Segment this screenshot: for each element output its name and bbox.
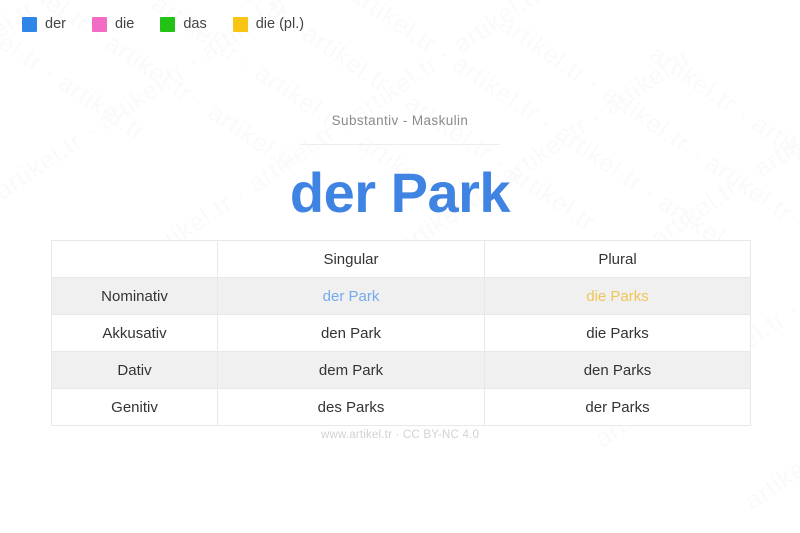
case-label-akkusativ: Akkusativ (52, 315, 218, 352)
declension-table: Singular Plural Nominativ der Park die P… (51, 240, 751, 426)
word-header: Substantiv - Maskulin der Park (0, 112, 800, 223)
column-header-singular: Singular (218, 241, 485, 278)
color-swatch-icon-die-plural (233, 17, 248, 32)
plural-form-akkusativ: die Parks (485, 315, 751, 352)
legend-item-die-plural: die (pl.) (233, 17, 304, 32)
plural-form-dativ: den Parks (485, 352, 751, 389)
page-title: der Park (0, 162, 800, 224)
singular-form-genitiv: des Parks (218, 389, 485, 426)
table-row-nominativ: Nominativ der Park die Parks (52, 278, 751, 315)
case-label-dativ: Dativ (52, 352, 218, 389)
table-header-row: Singular Plural (52, 241, 751, 278)
plural-form-nominativ: die Parks (485, 278, 751, 315)
table-row-dativ: Dativ dem Park den Parks (52, 352, 751, 389)
singular-form-dativ: dem Park (218, 352, 485, 389)
color-swatch-icon-der (22, 17, 37, 32)
column-header-case (52, 241, 218, 278)
legend-label-das: das (183, 17, 206, 32)
plural-form-genitiv: der Parks (485, 389, 751, 426)
table-row-akkusativ: Akkusativ den Park die Parks (52, 315, 751, 352)
legend-label-die-plural: die (pl.) (256, 17, 304, 32)
declension-card: der die das die (pl.) Substantiv - Masku… (0, 0, 800, 533)
singular-form-akkusativ: den Park (218, 315, 485, 352)
legend-label-die: die (115, 17, 134, 32)
legend-item-der: der (22, 17, 66, 32)
footer-credit: www.artikel.tr · CC BY-NC 4.0 (0, 429, 800, 441)
singular-form-nominativ: der Park (218, 278, 485, 315)
legend-item-die: die (92, 17, 134, 32)
article-color-legend: der die das die (pl.) (22, 17, 304, 32)
declension-table-container: Singular Plural Nominativ der Park die P… (51, 240, 750, 426)
column-header-plural: Plural (485, 241, 751, 278)
word-category-label: Substantiv - Maskulin (0, 112, 800, 130)
case-label-nominativ: Nominativ (52, 278, 218, 315)
color-swatch-icon-das (160, 17, 175, 32)
header-divider (300, 144, 500, 145)
color-swatch-icon-die (92, 17, 107, 32)
case-label-genitiv: Genitiv (52, 389, 218, 426)
legend-label-der: der (45, 17, 66, 32)
legend-item-das: das (160, 17, 206, 32)
table-row-genitiv: Genitiv des Parks der Parks (52, 389, 751, 426)
